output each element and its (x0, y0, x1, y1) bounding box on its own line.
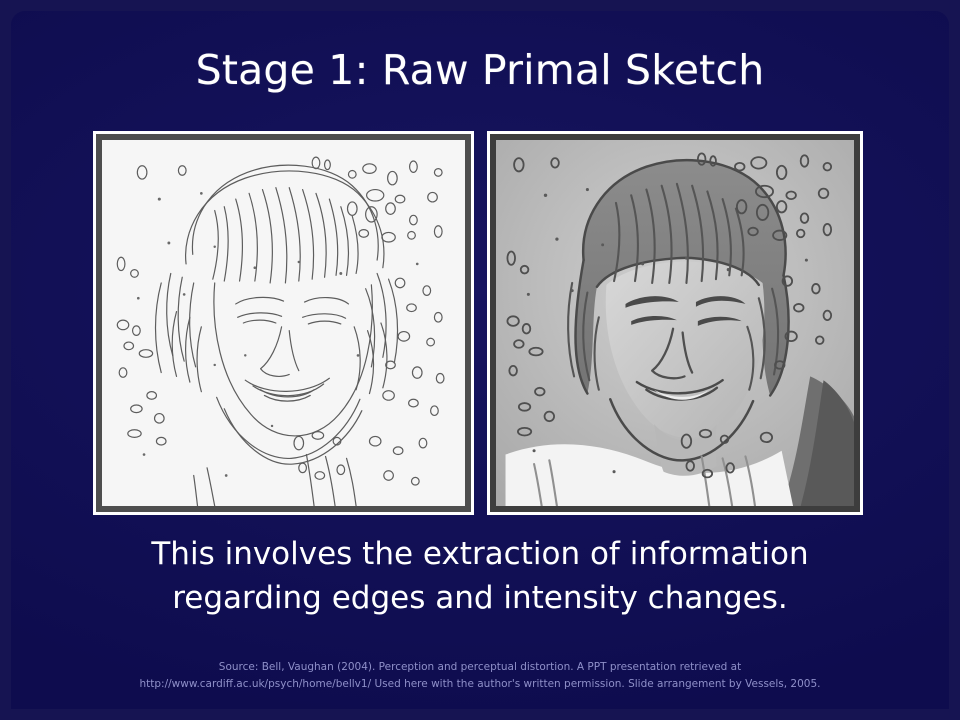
body-line-2: regarding edges and intensity changes. (80, 576, 880, 620)
line-drawing-illustration (102, 140, 465, 506)
source-line-1: Source: Bell, Vaughan (2004). Perception… (30, 659, 930, 676)
source-citation: Source: Bell, Vaughan (2004). Perception… (30, 659, 930, 693)
figure-row (93, 131, 863, 515)
presentation-slide: Stage 1: Raw Primal Sketch (0, 0, 960, 720)
source-line-2: http://www.cardiff.ac.uk/psych/home/bell… (30, 676, 930, 693)
slide-title: Stage 1: Raw Primal Sketch (0, 48, 960, 92)
figure-raw-primal-sketch-line-drawing (93, 131, 474, 515)
figure-raw-primal-sketch-grayscale (487, 131, 863, 515)
figure-right-border (490, 134, 860, 512)
body-line-1: This involves the extraction of informat… (80, 532, 880, 576)
figure-left-border (96, 134, 471, 512)
grayscale-photo-illustration (496, 140, 854, 506)
slide-body-text: This involves the extraction of informat… (80, 532, 880, 620)
